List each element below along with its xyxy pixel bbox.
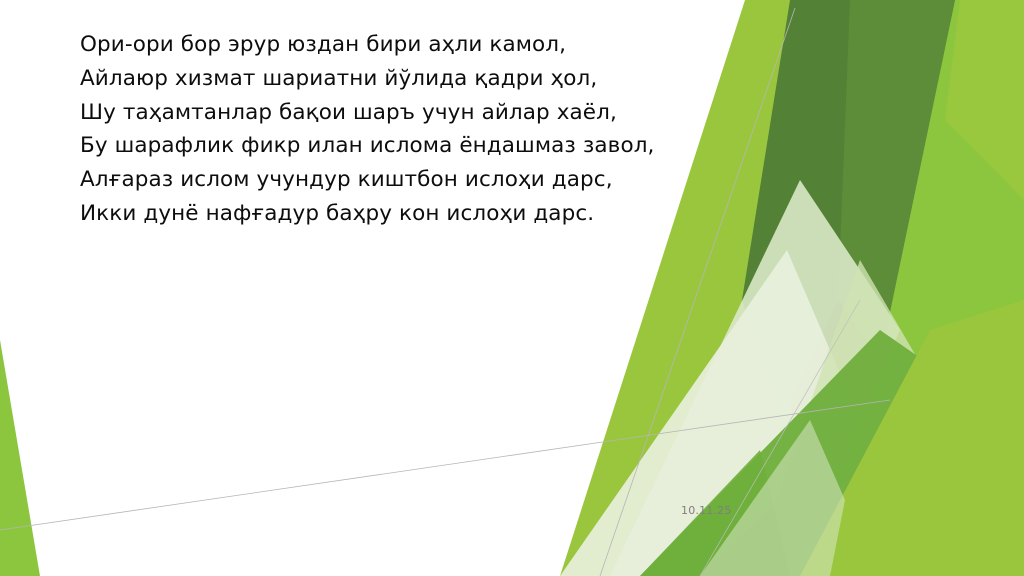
text-line: Икки дунё нафғадур баҳру кон ислоҳи дарс… <box>80 197 740 231</box>
slide-number: 7 <box>812 503 828 516</box>
text-line: Ори-ори бор эрур юздан бири аҳли камол, <box>80 28 740 62</box>
pale-sheet-mid <box>750 260 930 576</box>
text-line: Бу шарафлик фикр илан ислома ёндашмаз за… <box>80 129 740 163</box>
bottom-right-lime-wedge <box>800 300 1024 576</box>
text-line: Айлаюр хизмат шариатни йўлида қадри ҳол, <box>80 62 740 96</box>
slide-body-text: Ори-ори бор эрур юздан бири аҳли камол, … <box>80 28 740 231</box>
left-wedge-shape <box>0 340 40 576</box>
deep-green-shadow <box>790 300 880 470</box>
bottom-left-pale-overlay <box>700 420 845 576</box>
palest-sheet <box>560 250 860 576</box>
mid-green-overlay <box>838 0 955 360</box>
lower-diagonal-band <box>640 330 1024 576</box>
slide-canvas: Ори-ори бор эрур юздан бири аҳли камол, … <box>0 0 1024 576</box>
hairline-diagonal-secondary <box>0 400 890 530</box>
text-line: Шу таҳамтанлар бақои шаръ учун айлар хаё… <box>80 96 740 130</box>
pale-sheet-upper <box>610 180 900 576</box>
dark-green-sweep <box>742 0 955 470</box>
hairline-diagonal-tertiary <box>700 300 860 576</box>
lime-accent-strip <box>945 0 1024 200</box>
text-line: Алғараз ислом учундур киштбон ислоҳи дар… <box>80 163 740 197</box>
bright-green-band <box>700 0 1024 576</box>
footer-date: 10.11.25 <box>681 504 732 517</box>
